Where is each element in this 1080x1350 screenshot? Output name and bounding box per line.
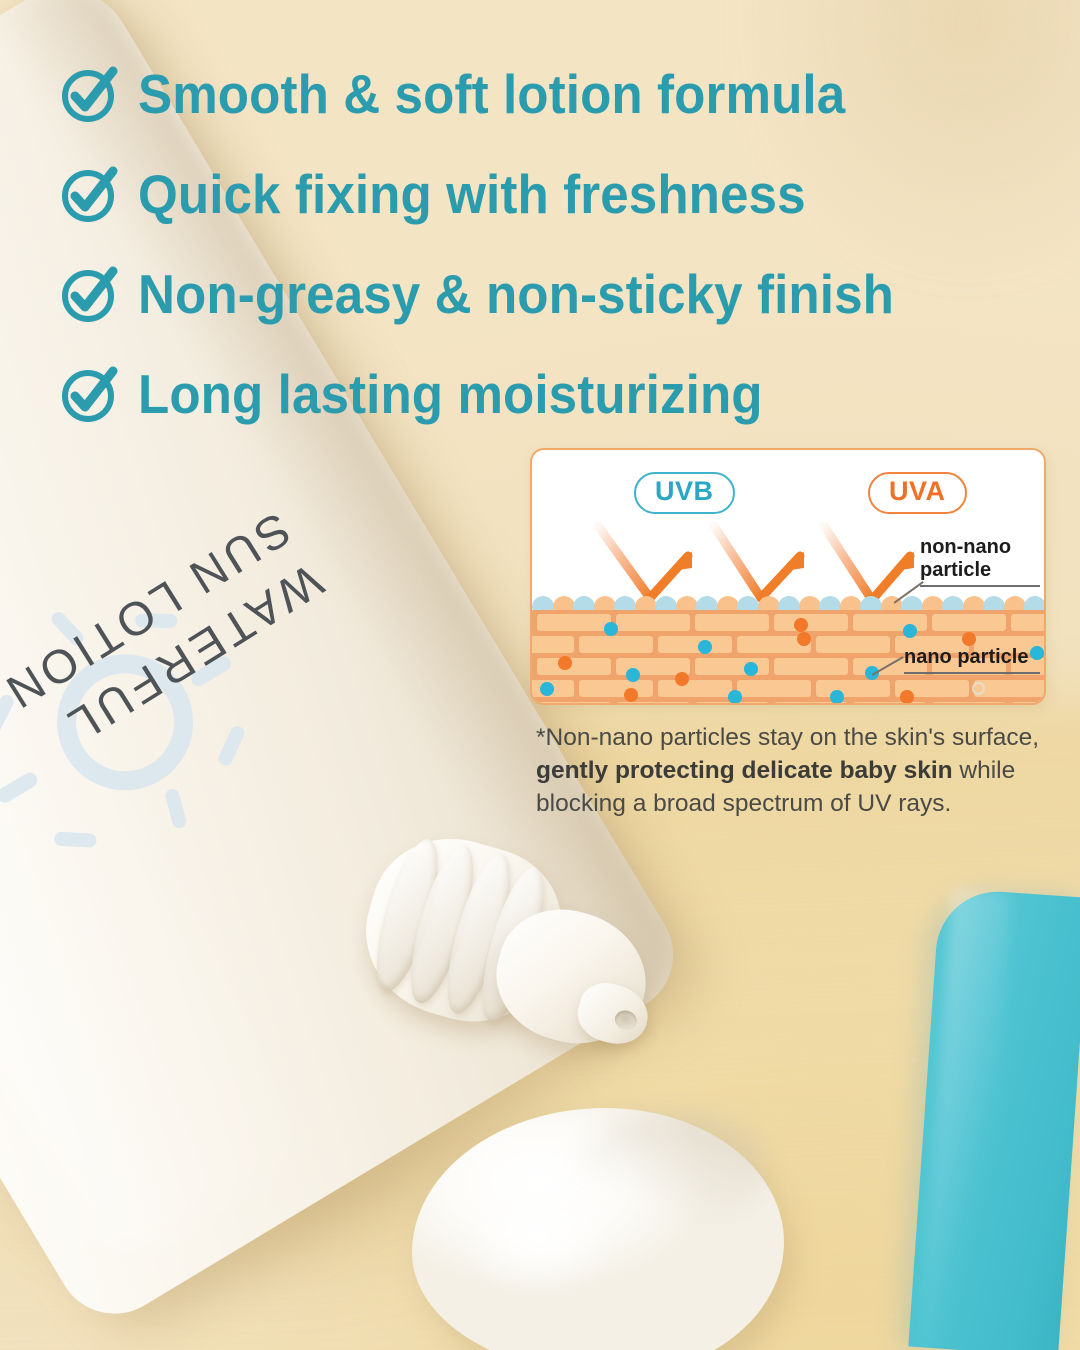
callout-line-1: non-nano — [920, 536, 1011, 558]
non-nano-particle — [1045, 596, 1047, 618]
sun-ray-icon — [164, 787, 188, 829]
skin-brick — [737, 680, 811, 697]
check-circle-icon — [58, 262, 122, 326]
nano-particle — [604, 622, 618, 636]
non-nano-particle-callout: non-nano particle — [920, 536, 1040, 587]
nano-particle — [900, 690, 914, 703]
skin-brick — [695, 658, 769, 675]
skin-brick — [774, 614, 848, 631]
nano-particle — [903, 624, 917, 638]
product-feature-image: WATERFUL SUN LOTION — [0, 0, 1080, 1350]
skin-brick — [658, 636, 732, 653]
skin-brick — [537, 658, 611, 675]
skin-brick — [932, 614, 1006, 631]
nano-particle — [626, 668, 640, 682]
lotion-droplet-highlight — [457, 1188, 621, 1295]
skin-brick — [816, 636, 890, 653]
nano-particle — [624, 688, 638, 702]
nano-particle — [744, 662, 758, 676]
benefit-item: Non-greasy & non-sticky finish — [58, 244, 1058, 344]
callout-rule — [904, 672, 1040, 674]
skin-brick — [537, 614, 611, 631]
nano-particle — [797, 632, 811, 646]
nano-particle — [830, 690, 844, 703]
benefit-item: Smooth & soft lotion formula — [58, 44, 1058, 144]
uv-protection-diagram: UVB UVA — [530, 448, 1046, 705]
benefit-item: Quick fixing with freshness — [58, 144, 1058, 244]
sun-ray-icon — [216, 724, 246, 768]
uv-ray-bounce-arrow — [824, 526, 916, 600]
sun-ray-icon — [54, 832, 97, 848]
skin-brick — [616, 614, 690, 631]
benefit-label: Quick fixing with freshness — [138, 162, 806, 226]
nano-particle — [540, 682, 554, 696]
nano-particle — [962, 632, 976, 646]
nano-particle-callout: nano particle — [904, 646, 1040, 674]
nano-particle — [675, 672, 689, 686]
nano-particle — [698, 640, 712, 654]
hollow-particle-marker — [972, 682, 985, 695]
callout-line-1: nano particle — [904, 646, 1028, 668]
check-circle-icon — [58, 62, 122, 126]
skin-brick — [774, 658, 848, 675]
caption-bold: gently protecting delicate baby skin — [536, 757, 953, 784]
nano-particle — [728, 690, 742, 703]
callout-line-2: particle — [920, 559, 991, 581]
uv-ray-bounce-arrow — [598, 526, 694, 598]
callout-rule — [920, 585, 1040, 587]
skin-brick — [532, 636, 574, 653]
skin-brick — [616, 702, 690, 703]
skin-brick — [1011, 614, 1044, 631]
check-circle-icon — [58, 162, 122, 226]
check-circle-icon — [58, 362, 122, 426]
uv-ray-bounce-arrow — [714, 526, 806, 598]
benefits-list: Smooth & soft lotion formula Quick fixin… — [58, 44, 1058, 444]
benefit-label: Smooth & soft lotion formula — [138, 62, 845, 126]
benefit-label: Non-greasy & non-sticky finish — [138, 262, 894, 326]
caption-part-1: *Non-nano particles stay on the skin's s… — [536, 724, 1039, 751]
benefit-label: Long lasting moisturizing — [138, 362, 763, 426]
benefit-item: Long lasting moisturizing — [58, 344, 1058, 444]
skin-brick — [1011, 702, 1044, 703]
skin-brick — [853, 702, 927, 703]
nano-particle — [558, 656, 572, 670]
skin-brick — [579, 680, 653, 697]
diagram-caption: *Non-nano particles stay on the skin's s… — [536, 722, 1046, 820]
skin-brick — [816, 680, 890, 697]
nano-particle — [794, 618, 808, 632]
skin-brick — [537, 702, 611, 703]
skin-brick — [932, 702, 1006, 703]
skin-brick — [695, 614, 769, 631]
skin-brick — [579, 636, 653, 653]
skin-brick — [658, 680, 732, 697]
